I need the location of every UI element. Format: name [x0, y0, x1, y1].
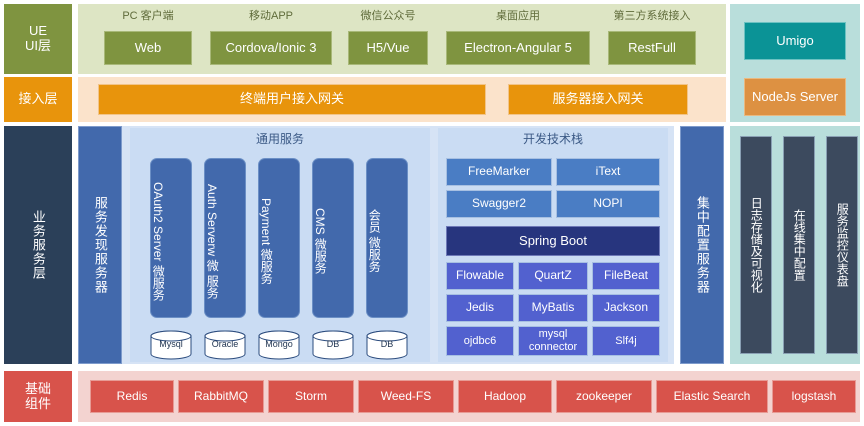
service-discovery-label: 服务发现服务器: [93, 196, 107, 294]
ui-client-box[interactable]: H5/Vue: [348, 31, 428, 65]
gateway-server[interactable]: 服务器接入网关: [508, 84, 688, 115]
database-cylinder: DB: [364, 330, 410, 360]
microservice-column[interactable]: Auth Serverw 微 服务: [204, 158, 246, 318]
database-cylinder: Mysql: [148, 330, 194, 360]
database-cylinder: Mongo: [256, 330, 302, 360]
tech-stack-box[interactable]: FileBeat: [592, 262, 660, 290]
microservice-column[interactable]: CMS 微服务: [312, 158, 354, 318]
microservice-column[interactable]: Payment 微服务: [258, 158, 300, 318]
tech-stack-box[interactable]: Jackson: [592, 294, 660, 322]
tech-stack-box[interactable]: QuartZ: [518, 262, 588, 290]
microservice-label: Payment 微服务: [259, 159, 272, 317]
tech-stack-title: 开发技术栈: [438, 133, 668, 147]
gateway-enduser[interactable]: 终端用户接入网关: [98, 84, 486, 115]
nodejs-server-label: NodeJs Server: [752, 90, 838, 105]
base-component-box[interactable]: Storm: [268, 380, 354, 413]
tech-stack-box[interactable]: FreeMarker: [446, 158, 552, 186]
tech-stack-box[interactable]: Jedis: [446, 294, 514, 322]
monitoring-label: 日志存储及可视化: [750, 197, 763, 293]
monitoring-label: 在线集中配置: [793, 209, 806, 281]
database-label: Oracle: [202, 339, 248, 349]
layer-label-access: 接入层: [4, 77, 72, 122]
microservice-label: 会员 微服务: [367, 159, 380, 317]
base-component-box[interactable]: RabbitMQ: [178, 380, 264, 413]
ui-client-box[interactable]: Web: [104, 31, 192, 65]
layer-label-base: 基础组件: [4, 371, 72, 422]
layer-label-business: 业务服务层: [4, 126, 72, 364]
layer-label-access-text: 接入层: [18, 92, 57, 107]
tech-stack-box[interactable]: Flowable: [446, 262, 514, 290]
ui-client-caption: 微信公众号: [348, 10, 428, 23]
database-label: Mongo: [256, 339, 302, 349]
ui-client-box[interactable]: Electron-Angular 5: [446, 31, 590, 65]
monitoring-label: 服务监控仪表盘: [836, 203, 849, 287]
service-discovery-column[interactable]: 服务发现服务器: [78, 126, 122, 364]
tech-stack-box[interactable]: mysql connector: [518, 326, 588, 356]
tech-stack-box[interactable]: NOPI: [556, 190, 660, 218]
monitoring-column[interactable]: 日志存储及可视化: [740, 136, 772, 354]
spring-boot-box[interactable]: Spring Boot: [446, 226, 660, 256]
config-server-label: 集中配置服务器: [695, 196, 709, 294]
ui-client-caption: 第三方系统接入: [608, 10, 696, 23]
umigo-label: Umigo: [776, 34, 814, 49]
layer-label-ue-text: UE UI层: [25, 24, 51, 54]
ui-client-box[interactable]: RestFull: [608, 31, 696, 65]
nodejs-server-box[interactable]: NodeJs Server: [744, 78, 846, 116]
base-component-box[interactable]: Redis: [90, 380, 174, 413]
tech-stack-box[interactable]: ojdbc6: [446, 326, 514, 356]
base-component-box[interactable]: Hadoop: [458, 380, 552, 413]
tech-stack-box[interactable]: Slf4j: [592, 326, 660, 356]
ui-client-box[interactable]: Cordova/Ionic 3: [210, 31, 332, 65]
gateway-enduser-label: 终端用户接入网关: [240, 92, 344, 107]
tech-stack-box[interactable]: MyBatis: [518, 294, 588, 322]
architecture-diagram: UE UI层 接入层 业务服务层 基础组件 PC 客户端Web移动APPCord…: [0, 0, 864, 426]
general-services-title: 通用服务: [130, 133, 430, 147]
umigo-box[interactable]: Umigo: [744, 22, 846, 60]
base-component-box[interactable]: Weed-FS: [358, 380, 454, 413]
database-cylinder: Oracle: [202, 330, 248, 360]
base-component-box[interactable]: zookeeper: [556, 380, 652, 413]
tech-stack-box[interactable]: Swagger2: [446, 190, 552, 218]
layer-label-business-text: 业务服务层: [31, 210, 45, 280]
tech-stack-box[interactable]: iText: [556, 158, 660, 186]
microservice-label: Auth Serverw 微 服务: [205, 159, 218, 317]
gateway-server-label: 服务器接入网关: [552, 92, 643, 107]
microservice-column[interactable]: 会员 微服务: [366, 158, 408, 318]
ui-client-caption: 移动APP: [210, 10, 332, 23]
monitoring-column[interactable]: 服务监控仪表盘: [826, 136, 858, 354]
microservice-label: OAuth2 Server 微服务: [151, 159, 164, 317]
layer-label-ue: UE UI层: [4, 4, 72, 74]
base-component-box[interactable]: Elastic Search: [656, 380, 768, 413]
database-label: DB: [364, 339, 410, 349]
microservice-column[interactable]: OAuth2 Server 微服务: [150, 158, 192, 318]
ui-client-caption: PC 客户端: [104, 10, 192, 23]
microservice-label: CMS 微服务: [313, 159, 326, 317]
database-cylinder: DB: [310, 330, 356, 360]
layer-label-base-text: 基础组件: [20, 382, 56, 412]
config-server-column[interactable]: 集中配置服务器: [680, 126, 724, 364]
monitoring-column[interactable]: 在线集中配置: [783, 136, 815, 354]
database-label: DB: [310, 339, 356, 349]
base-component-box[interactable]: logstash: [772, 380, 856, 413]
ui-client-caption: 桌面应用: [446, 10, 590, 23]
database-label: Mysql: [148, 339, 194, 349]
